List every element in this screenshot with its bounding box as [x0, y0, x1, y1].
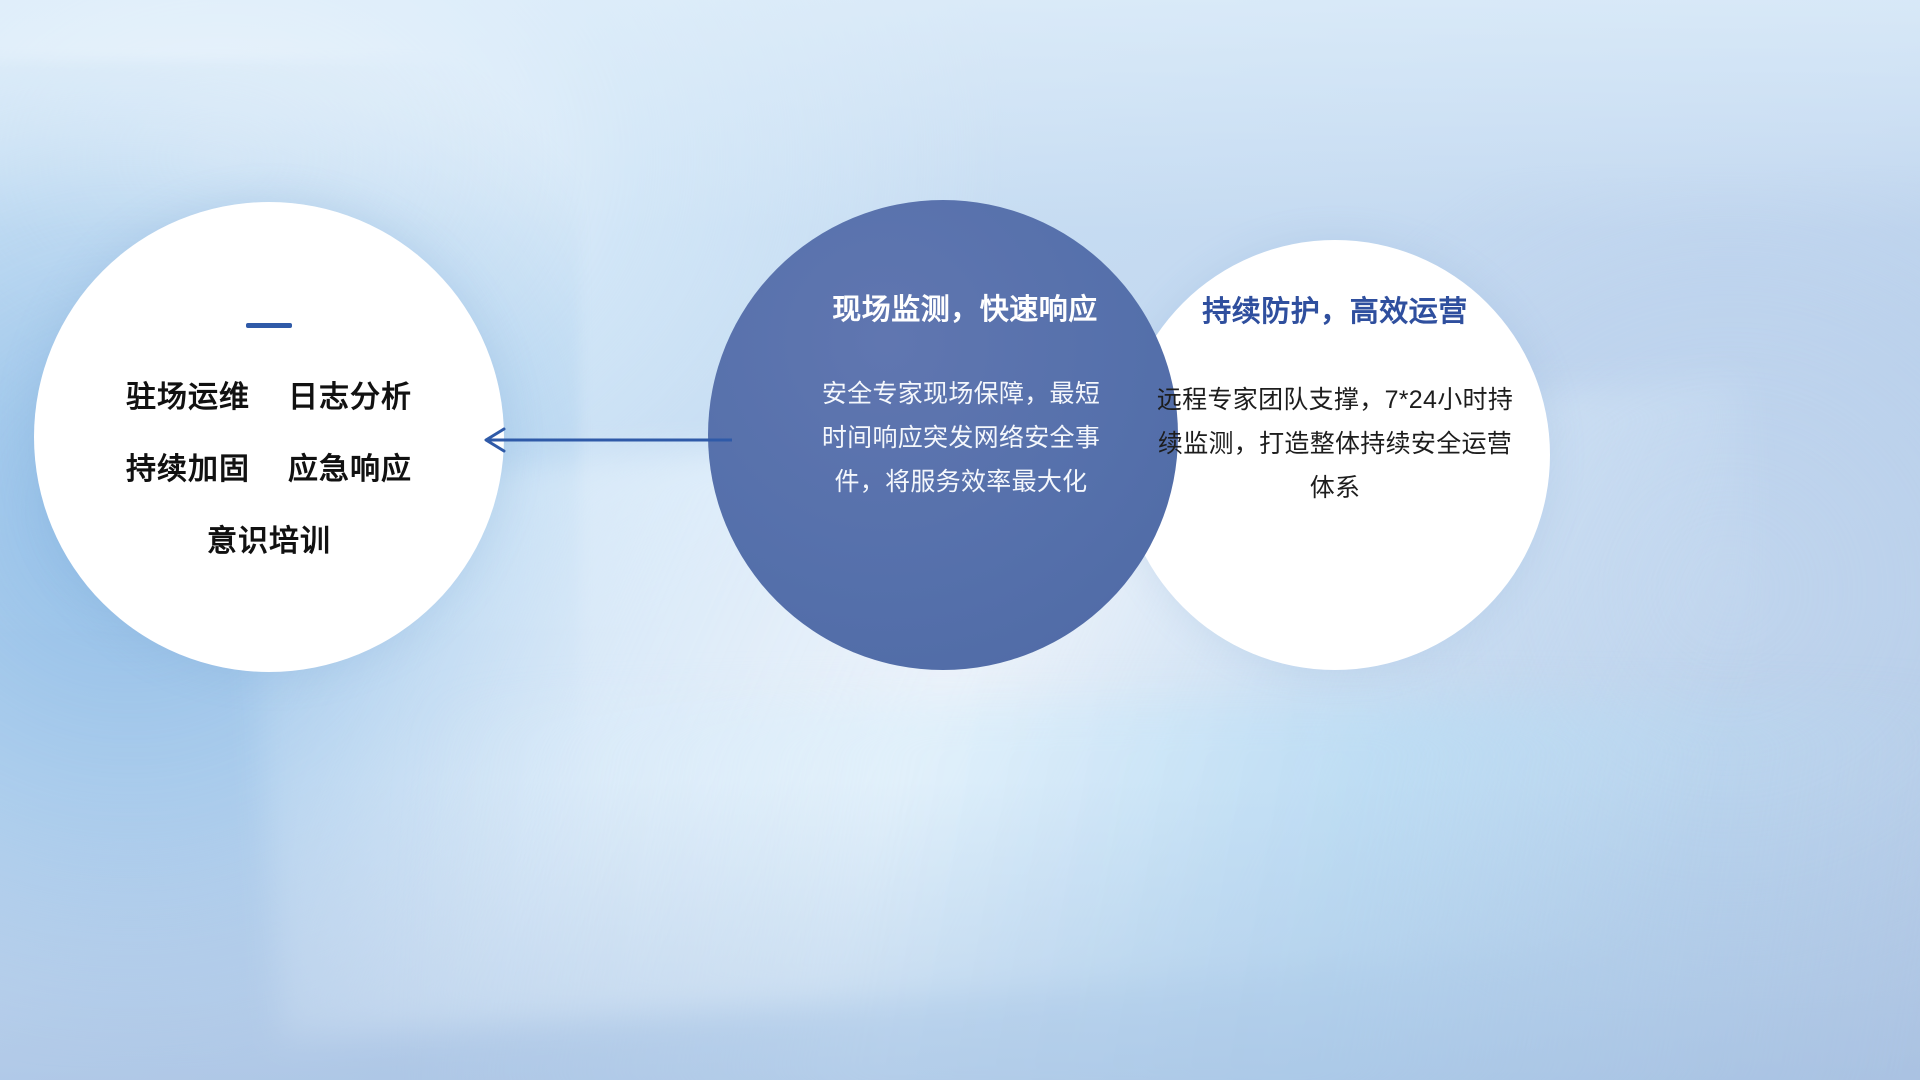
- left-circle-row: 意识培训: [207, 516, 331, 560]
- left-circle-keyword: 应急响应: [288, 444, 412, 488]
- horizontal-dash-icon: [246, 323, 292, 328]
- left-circle-keyword: 驻场运维: [126, 372, 250, 416]
- middle-circle-title: 现场监测，快速响应: [832, 286, 1098, 328]
- middle-circle-body: 安全专家现场保障，最短时间响应突发网络安全事件，将服务效率最大化: [816, 372, 1106, 504]
- slide-canvas: 驻场运维 日志分析 持续加固 应急响应 意识培训 现场监测，快速响应 安全专家现…: [0, 0, 1920, 1080]
- right-circle-title: 持续防护，高效运营: [1202, 288, 1468, 330]
- left-circle-content: 驻场运维 日志分析 持续加固 应急响应 意识培训: [34, 202, 504, 672]
- right-circle-body: 远程专家团队支撑，7*24小时持续监测，打造整体持续安全运营体系: [1149, 378, 1521, 510]
- background-bottom-vignette: [0, 780, 1920, 1080]
- left-circle-row: 持续加固 应急响应: [126, 444, 412, 488]
- left-arrow-icon: [470, 415, 740, 465]
- left-circle-row: 驻场运维 日志分析: [126, 372, 412, 416]
- left-circle-keyword: 日志分析: [288, 372, 412, 416]
- left-circle-keyword: 持续加固: [126, 444, 250, 488]
- background-top-haze: [0, 0, 1920, 230]
- right-circle-content: 持续防护，高效运营 远程专家团队支撑，7*24小时持续监测，打造整体持续安全运营…: [1120, 240, 1550, 670]
- left-circle-keyword: 意识培训: [207, 516, 331, 560]
- middle-circle-content: 现场监测，快速响应 安全专家现场保障，最短时间响应突发网络安全事件，将服务效率最…: [708, 200, 1178, 670]
